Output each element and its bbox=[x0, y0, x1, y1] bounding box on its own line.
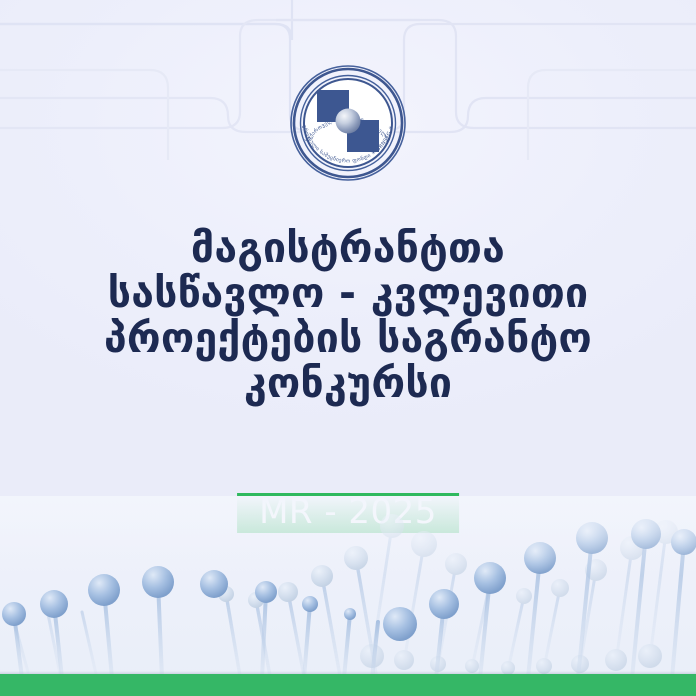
title-line-3: პროექტების საგრანტო bbox=[26, 316, 670, 361]
poster-canvas: საქართველოს შოთა რუსთაველის ეროვნული სამ… bbox=[0, 0, 696, 696]
title-line-2: სასწავლო - კვლევითი bbox=[26, 271, 670, 316]
srnsfg-seal-icon: საქართველოს შოთა რუსთაველის ეროვნული სამ… bbox=[289, 64, 407, 182]
title-line-4: კონკურსი bbox=[26, 361, 670, 406]
page-title: მაგისტრანტთა სასწავლო - კვლევითი პროექტე… bbox=[0, 226, 696, 406]
dna-helix-illustration bbox=[0, 496, 696, 696]
title-line-1: მაგისტრანტთა bbox=[26, 226, 670, 271]
srnsfg-logo: საქართველოს შოთა რუსთაველის ეროვნული სამ… bbox=[289, 64, 407, 182]
bottom-green-bar bbox=[0, 674, 696, 696]
